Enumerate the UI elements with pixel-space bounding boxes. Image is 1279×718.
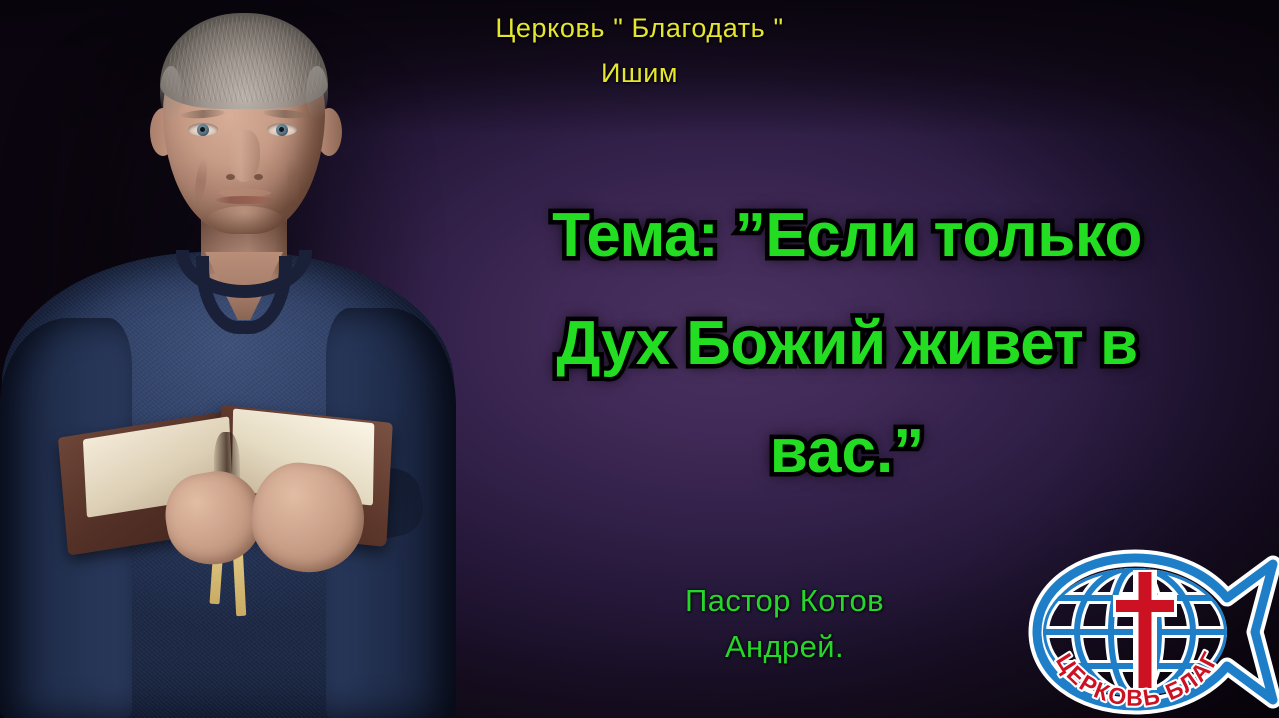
speaker-credit-line2: Андрей.	[470, 624, 1099, 670]
church-city-line2: Ишим	[0, 51, 1279, 96]
sermon-title-line3: вас.”	[470, 398, 1224, 506]
church-grace-ichthys-logo: ЦЕРКОВЬ БЛАГОДАТЬ	[1017, 540, 1279, 718]
church-name-line1: Церковь " Благодать "	[495, 13, 783, 43]
sermon-title-line1: Тема: ”Если только	[470, 182, 1224, 290]
nostril-right	[254, 174, 263, 180]
open-bible	[56, 406, 396, 596]
sermon-title: Тема: ”Если только Дух Божий живет в вас…	[470, 182, 1224, 506]
speaker-credit-line1: Пастор Котов	[685, 583, 884, 618]
sermon-title-line2: Дух Божий живет в	[470, 290, 1224, 398]
nostril-left	[226, 174, 235, 180]
pastor-portrait-photo	[0, 0, 470, 718]
pupil-left	[200, 127, 205, 132]
chin	[206, 206, 284, 236]
speaker-credit: Пастор Котов Андрей.	[470, 578, 1099, 670]
mouth	[216, 196, 274, 204]
pupil-right	[279, 127, 284, 132]
slide-canvas: Церковь " Благодать " Ишим Тема: ”Если т…	[0, 0, 1279, 718]
church-name-header: Церковь " Благодать " Ишим	[0, 6, 1279, 96]
